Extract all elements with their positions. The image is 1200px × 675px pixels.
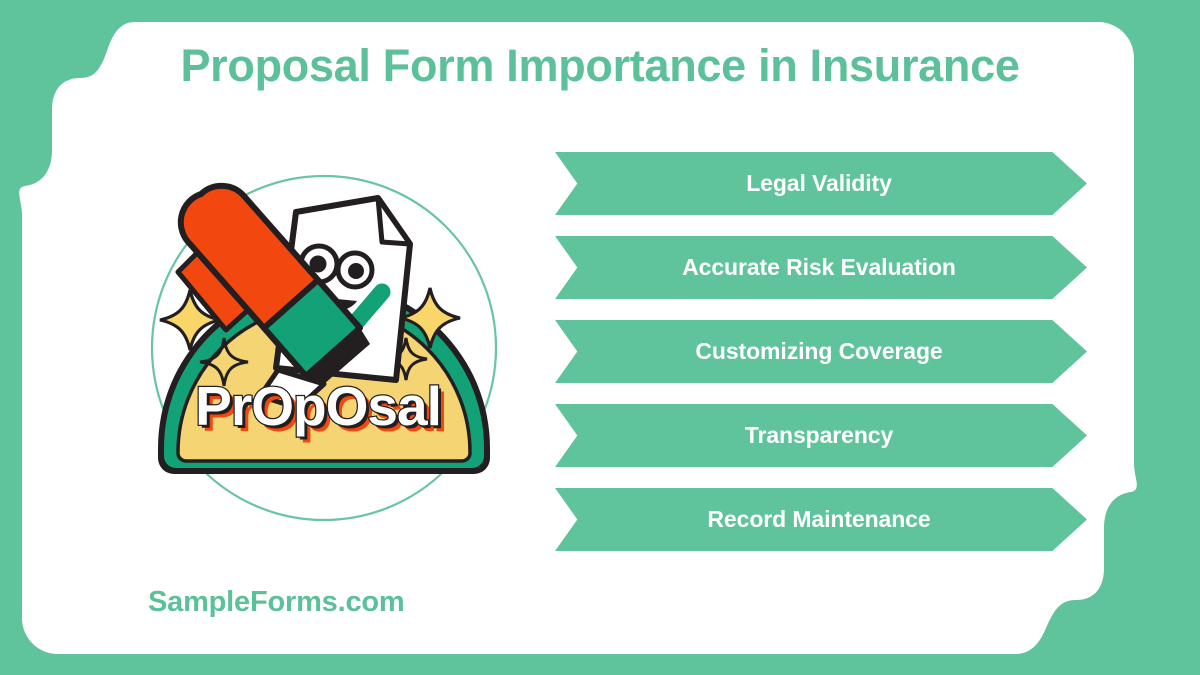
benefit-banner-list: Legal Validity Accurate Risk Evaluation …: [555, 152, 1090, 552]
banner-label: Record Maintenance: [707, 506, 930, 533]
infographic-stage: Proposal Form Importance in Insurance: [0, 0, 1200, 675]
footer-brand: SampleForms.com: [148, 586, 404, 619]
banner-label: Accurate Risk Evaluation: [682, 254, 956, 281]
banner-label: Legal Validity: [746, 170, 892, 197]
banner-label: Customizing Coverage: [695, 338, 942, 365]
banner-customizing-coverage[interactable]: Customizing Coverage: [555, 320, 1087, 383]
proposal-badge-illustration: PrOpOsal PrOpOsal PrOpOsal: [128, 152, 520, 548]
banner-label: Transparency: [745, 422, 893, 449]
banner-transparency[interactable]: Transparency: [555, 404, 1087, 467]
banner-record-maintenance[interactable]: Record Maintenance: [555, 488, 1087, 551]
wordmark: PrOpOsal PrOpOsal PrOpOsal: [195, 375, 447, 443]
page-title: Proposal Form Importance in Insurance: [0, 40, 1200, 92]
wordmark-text: PrOpOsal: [195, 375, 441, 437]
banner-legal-validity[interactable]: Legal Validity: [555, 152, 1087, 215]
banner-accurate-risk-evaluation[interactable]: Accurate Risk Evaluation: [555, 236, 1087, 299]
